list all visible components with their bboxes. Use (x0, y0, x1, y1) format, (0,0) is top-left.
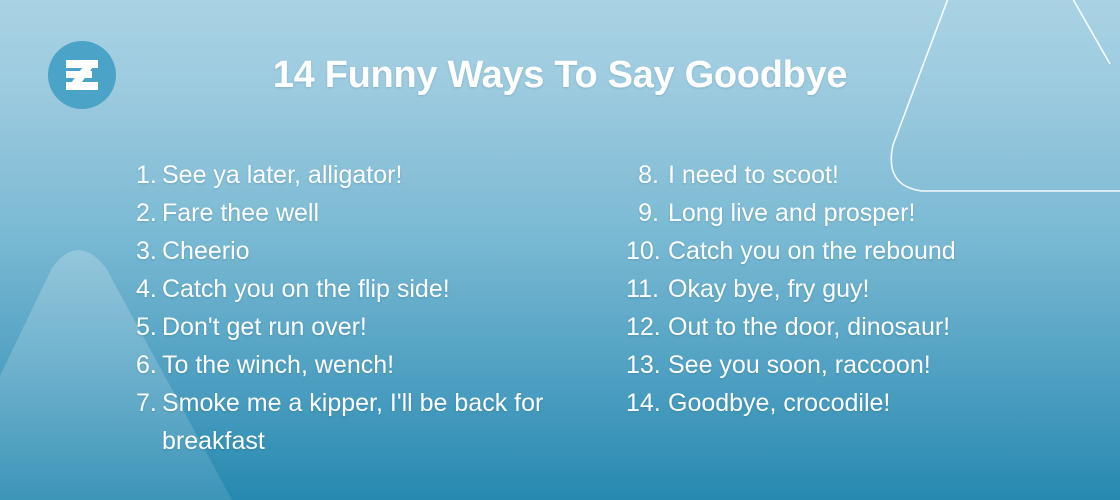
list-item-label: Cheerio (162, 232, 606, 270)
list-item-label: Catch you on the rebound (668, 232, 1056, 270)
list-item-label: Smoke me a kipper, I'll be back for brea… (162, 384, 606, 460)
list-column-left: 1.See ya later, alligator!2.Fare thee we… (136, 156, 606, 460)
list-item: 9.Long live and prosper! (626, 194, 1056, 232)
list-item-number: 8. (626, 156, 668, 194)
list-item: 14.Goodbye, crocodile! (626, 384, 1056, 422)
page-title: 14 Funny Ways To Say Goodbye (0, 49, 1120, 101)
list-item-label: Fare thee well (162, 194, 606, 232)
list-item: 5.Don't get run over! (136, 308, 606, 346)
list-item-number: 14. (626, 384, 668, 422)
list-item-number: 2. (136, 194, 162, 232)
list-item: 12.Out to the door, dinosaur! (626, 308, 1056, 346)
list-column-right: 8.I need to scoot!9.Long live and prospe… (626, 156, 1056, 422)
list-item-number: 6. (136, 346, 162, 384)
list-item: 11.Okay bye, fry guy! (626, 270, 1056, 308)
list-item-number: 4. (136, 270, 162, 308)
list-item-number: 1. (136, 156, 162, 194)
goodbye-list-left: 1.See ya later, alligator!2.Fare thee we… (136, 156, 606, 460)
list-item-number: 12. (626, 308, 668, 346)
header: 14 Funny Ways To Say Goodbye (0, 0, 1120, 150)
list-item-label: Okay bye, fry guy! (668, 270, 1056, 308)
list-item: 3.Cheerio (136, 232, 606, 270)
list-item: 10.Catch you on the rebound (626, 232, 1056, 270)
list-item-label: See ya later, alligator! (162, 156, 606, 194)
list-item: 4.Catch you on the flip side! (136, 270, 606, 308)
list-item-number: 13. (626, 346, 668, 384)
list-item-label: I need to scoot! (668, 156, 1056, 194)
list-columns: 1.See ya later, alligator!2.Fare thee we… (0, 156, 1120, 500)
list-item-label: See you soon, raccoon! (668, 346, 1056, 384)
list-item: 8.I need to scoot! (626, 156, 1056, 194)
list-item-number: 7. (136, 384, 162, 422)
list-item-number: 11. (626, 270, 668, 308)
list-item-label: Long live and prosper! (668, 194, 1056, 232)
list-item-label: Don't get run over! (162, 308, 606, 346)
list-item-number: 5. (136, 308, 162, 346)
list-item-label: Out to the door, dinosaur! (668, 308, 1056, 346)
list-item: 2.Fare thee well (136, 194, 606, 232)
list-item: 13.See you soon, raccoon! (626, 346, 1056, 384)
list-item-label: Goodbye, crocodile! (668, 384, 1056, 422)
list-item-number: 9. (626, 194, 668, 232)
list-item: 1.See ya later, alligator! (136, 156, 606, 194)
list-item-number: 10. (626, 232, 668, 270)
list-item-label: To the winch, wench! (162, 346, 606, 384)
goodbye-list-right: 8.I need to scoot!9.Long live and prospe… (626, 156, 1056, 422)
list-item-label: Catch you on the flip side! (162, 270, 606, 308)
list-item-number: 3. (136, 232, 162, 270)
list-item: 7.Smoke me a kipper, I'll be back for br… (136, 384, 606, 460)
list-item: 6.To the winch, wench! (136, 346, 606, 384)
